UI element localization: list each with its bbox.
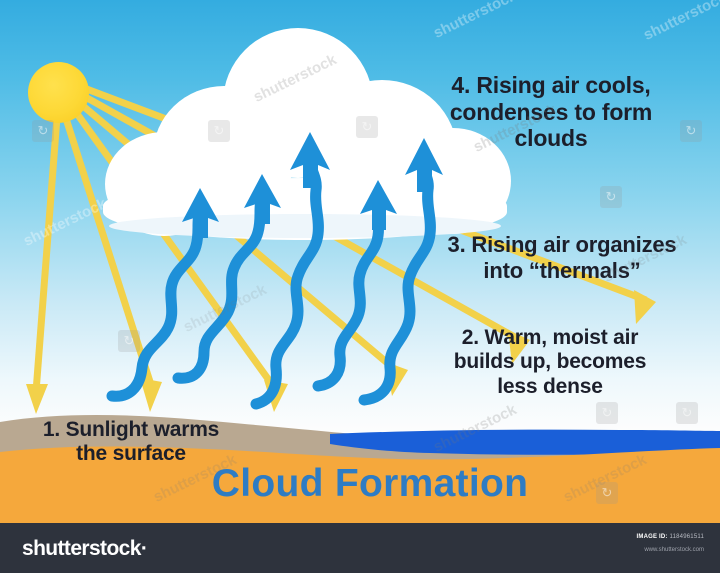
caption-step-1-line-1: 1. Sunlight warms <box>8 418 254 442</box>
caption-step-3-line-1: 3. Rising air organizes <box>406 232 718 258</box>
caption-step-3: 3. Rising air organizes into “thermals” <box>406 232 718 283</box>
caption-step-4-line-1: 4. Rising air cools, <box>386 72 716 99</box>
caption-step-4: 4. Rising air cools, condenses to form c… <box>386 72 716 152</box>
caption-step-3-line-2: into “thermals” <box>406 258 718 284</box>
caption-step-2-line-3: less dense <box>400 375 700 399</box>
cloud-formation-illustration: 4. Rising air cools, condenses to form c… <box>0 0 720 573</box>
image-id-value: 1184961511 <box>670 534 704 540</box>
shutterstock-footer: shutterstock· IMAGE ID: 1184961511 www.s… <box>0 523 720 573</box>
caption-step-4-line-3: clouds <box>386 125 716 152</box>
caption-step-4-line-2: condenses to form <box>386 99 716 126</box>
caption-step-2: 2. Warm, moist air builds up, becomes le… <box>400 326 700 399</box>
image-id-key: IMAGE ID: <box>637 534 668 540</box>
caption-step-2-line-1: 2. Warm, moist air <box>400 326 700 350</box>
image-id-label: IMAGE ID: 1184961511 <box>637 534 705 540</box>
caption-step-2-line-2: builds up, becomes <box>400 350 700 374</box>
shutterstock-url: www.shutterstock.com <box>644 547 704 553</box>
shutterstock-logo: shutterstock· <box>22 537 147 561</box>
diagram-title: Cloud Formation <box>150 462 590 506</box>
caption-step-1: 1. Sunlight warms the surface <box>8 418 254 467</box>
